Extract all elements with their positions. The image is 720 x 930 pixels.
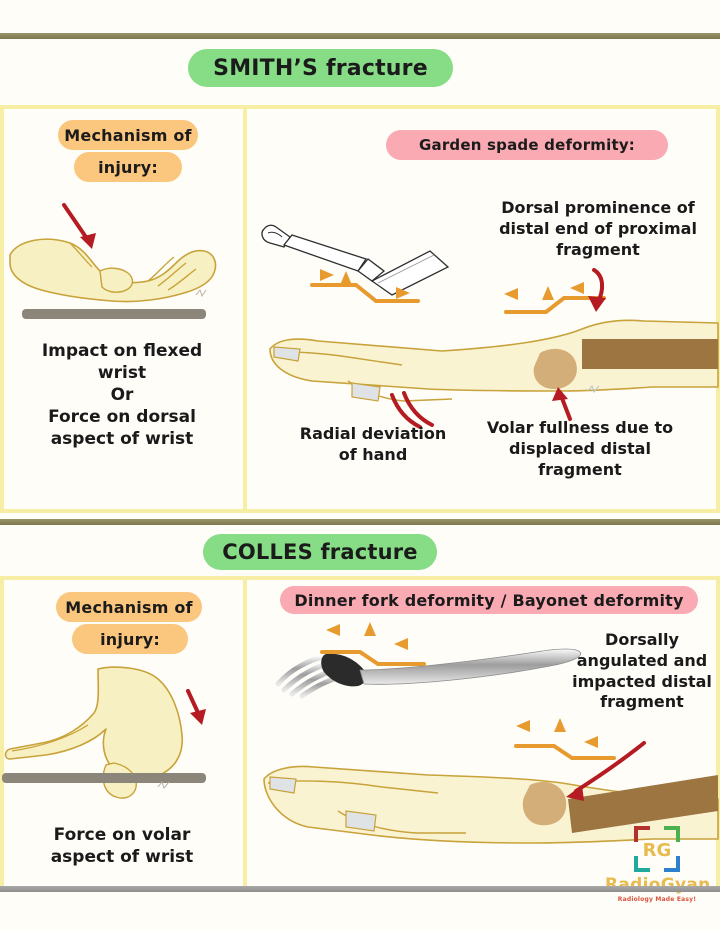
- poster-canvas: SMITH’S fracture Mechanism of injury:: [0, 0, 720, 930]
- smiths-volar-fullness-label: Volar fullness due to displaced distal f…: [466, 418, 694, 480]
- smiths-mechanism-caption: Impact on flexed wrist Or Force on dorsa…: [10, 340, 234, 450]
- section-title-colles: COLLES fracture: [203, 534, 437, 570]
- colles-orange-step-arrows-fork: [316, 618, 446, 666]
- colles-mechanism-caption: Force on volar aspect of wrist: [10, 824, 234, 868]
- radiogyan-tagline: Radiology Made Easy!: [605, 896, 709, 903]
- colles-mechanism-badge-line1: Mechanism of: [56, 592, 202, 622]
- smiths-dorsal-arrow-icon: [570, 268, 630, 316]
- red-arrow-down-icon: [188, 691, 206, 725]
- bottom-divider-rule: [0, 886, 720, 892]
- red-arrow-up-icon: [552, 387, 570, 419]
- radiogyan-logo-mark: RG: [632, 824, 682, 874]
- top-divider-rule: [0, 33, 720, 39]
- smiths-dorsal-prominence-label: Dorsal prominence of distal end of proxi…: [486, 198, 710, 260]
- smiths-radial-deviation-label: Radial deviation of hand: [278, 424, 468, 466]
- svg-text:RG: RG: [643, 840, 672, 861]
- radiogyan-wordmark: RadioGyan: [605, 875, 709, 895]
- red-curved-arrows-icon: [392, 393, 432, 427]
- colles-deformity-badge: Dinner fork deformity / Bayonet deformit…: [280, 586, 698, 614]
- smiths-mechanism-badge-line1: Mechanism of: [58, 120, 198, 150]
- smiths-column-divider: [243, 105, 247, 513]
- colles-dorsally-angulated-label: Dorsally angulated and impacted distal f…: [570, 630, 714, 713]
- smiths-flexed-wrist-illustration: [8, 185, 238, 330]
- colles-extended-wrist-illustration: [2, 655, 238, 815]
- smiths-frame-bottom: [0, 509, 720, 513]
- colles-mechanism-badge-line2: injury:: [72, 624, 188, 654]
- smiths-frame-top: [0, 105, 720, 109]
- smiths-mechanism-badge-line2: injury:: [74, 152, 182, 182]
- smiths-frame-left: [0, 105, 4, 513]
- colles-frame-top: [0, 576, 720, 580]
- smiths-deformity-badge: Garden spade deformity:: [386, 130, 668, 160]
- colles-column-divider: [243, 576, 247, 886]
- smiths-forearm-bone-illustration: [252, 295, 718, 420]
- section-divider-rule: [0, 519, 720, 525]
- section-title-smiths: SMITH’S fracture: [188, 49, 453, 87]
